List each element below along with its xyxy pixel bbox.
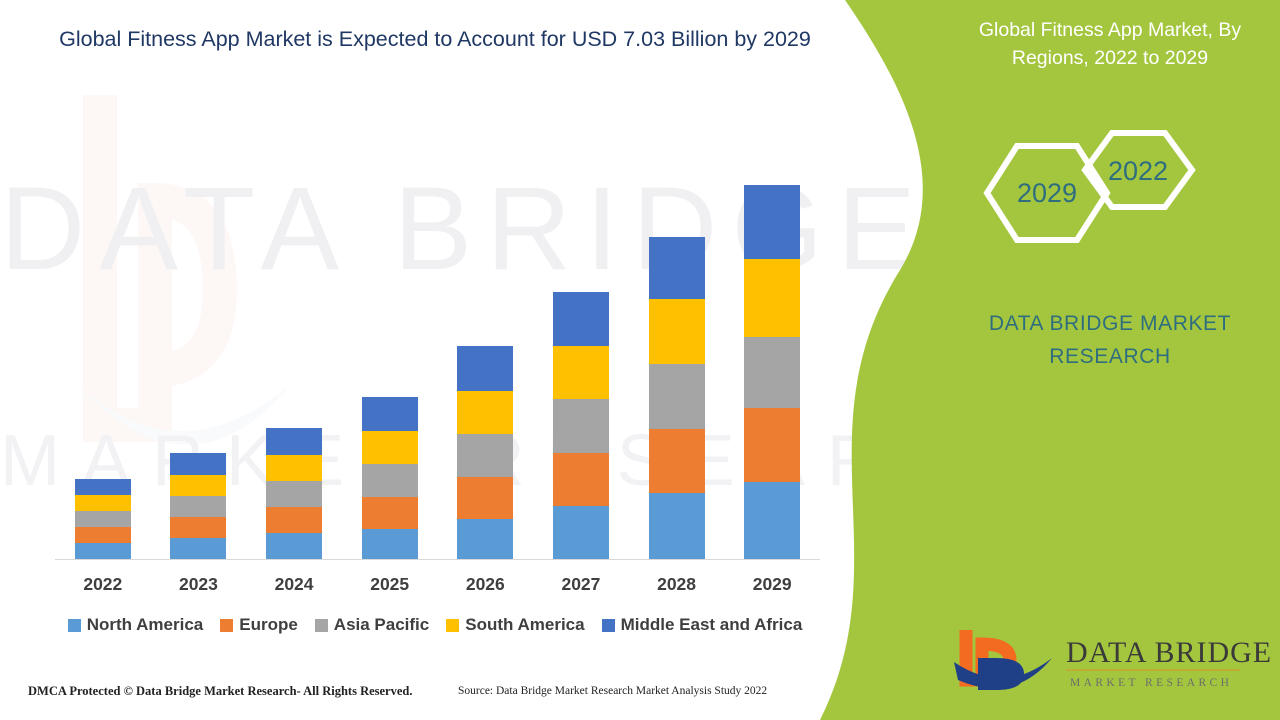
panel-title: Global Fitness App Market, By Regions, 2… <box>945 16 1275 73</box>
bar-segment <box>75 511 131 527</box>
bar-group-2027 <box>553 292 609 559</box>
bar-segment <box>170 538 226 559</box>
bar-segment <box>266 481 322 507</box>
bar-segment <box>744 482 800 559</box>
bar-segment <box>649 493 705 559</box>
bar-segment <box>266 455 322 481</box>
bar-group-2029 <box>744 185 800 559</box>
bar-segment <box>457 477 513 519</box>
x-axis-label-2024: 2024 <box>254 574 334 595</box>
legend-item-asia-pacific[interactable]: Asia Pacific <box>315 615 429 635</box>
legend-item-europe[interactable]: Europe <box>220 615 298 635</box>
x-axis-label-2026: 2026 <box>445 574 525 595</box>
chart-image: DATA BRIDGE MARKET RESEARCH Global Fitne… <box>0 0 1280 720</box>
x-axis-label-2025: 2025 <box>350 574 430 595</box>
bar-segment <box>457 391 513 434</box>
legend-label: Europe <box>239 615 298 635</box>
bar-segment <box>744 408 800 482</box>
footer-source: Source: Data Bridge Market Research Mark… <box>458 685 767 697</box>
x-axis-label-2027: 2027 <box>541 574 621 595</box>
bar-group-2024 <box>266 428 322 559</box>
bar-segment <box>553 399 609 453</box>
bar-segment <box>744 185 800 259</box>
legend-label: South America <box>465 615 584 635</box>
legend-item-middle-east-and-africa[interactable]: Middle East and Africa <box>602 615 803 635</box>
x-axis-label-2022: 2022 <box>63 574 143 595</box>
bar-segment <box>75 479 131 495</box>
bar-segment <box>75 527 131 543</box>
brand-name-line2: RESEARCH <box>1049 345 1171 368</box>
x-axis-label-2023: 2023 <box>158 574 238 595</box>
plot-area <box>55 120 820 560</box>
bar-segment <box>362 529 418 559</box>
hexagon-label-2022: 2022 <box>1108 156 1168 186</box>
legend-swatch <box>220 619 233 632</box>
legend-item-south-america[interactable]: South America <box>446 615 584 635</box>
bar-segment <box>649 364 705 429</box>
x-axis-line <box>55 559 820 560</box>
legend-swatch <box>315 619 328 632</box>
legend-item-north-america[interactable]: North America <box>68 615 204 635</box>
bar-segment <box>649 299 705 364</box>
footer-copyright: DMCA Protected © Data Bridge Market Rese… <box>28 684 413 699</box>
brand-name: DATA BRIDGE MARKET RESEARCH <box>950 308 1270 373</box>
bar-group-2025 <box>362 397 418 559</box>
bar-group-2022 <box>75 479 131 559</box>
legend-swatch <box>602 619 615 632</box>
x-axis-label-2029: 2029 <box>732 574 812 595</box>
x-axis-labels: 20222023202420252026202720282029 <box>55 574 820 600</box>
bar-segment <box>362 431 418 464</box>
bar-segment <box>75 543 131 559</box>
bar-segment <box>457 346 513 391</box>
x-axis-label-2028: 2028 <box>637 574 717 595</box>
bar-segment <box>266 428 322 455</box>
bar-segment <box>457 434 513 477</box>
bar-segment <box>75 495 131 511</box>
brand-name-line1: DATA BRIDGE MARKET <box>989 312 1231 335</box>
bar-group-2023 <box>170 453 226 559</box>
bar-segment <box>649 429 705 493</box>
legend-swatch <box>446 619 459 632</box>
bar-segment <box>457 519 513 559</box>
legend-swatch <box>68 619 81 632</box>
bar-segment <box>362 464 418 497</box>
bar-segment <box>170 496 226 517</box>
legend-label: Asia Pacific <box>334 615 429 635</box>
bar-segment <box>553 346 609 399</box>
bar-segment <box>362 497 418 529</box>
bar-segment <box>553 506 609 559</box>
logo-text-primary: DATA BRIDGE <box>1066 636 1272 669</box>
legend-label: Middle East and Africa <box>621 615 803 635</box>
bar-segment <box>170 475 226 496</box>
bar-segment <box>170 517 226 538</box>
bar-segment <box>553 453 609 506</box>
bar-segment <box>744 337 800 408</box>
bar-group-2028 <box>649 237 705 559</box>
bar-segment <box>744 259 800 337</box>
brand-panel-content: Global Fitness App Market, By Regions, 2… <box>940 0 1280 720</box>
logo-text-secondary: MARKET RESEARCH <box>1070 677 1232 689</box>
bar-segment <box>266 533 322 559</box>
legend-label: North America <box>87 615 204 635</box>
bar-group-2026 <box>457 346 513 559</box>
bar-segment <box>362 397 418 431</box>
chart-legend: North AmericaEuropeAsia PacificSouth Ame… <box>40 615 830 635</box>
company-logo: DATA BRIDGE MARKET RESEARCH <box>948 618 1278 698</box>
chart-title: Global Fitness App Market is Expected to… <box>40 24 830 55</box>
bar-segment <box>266 507 322 533</box>
bar-segment <box>649 237 705 299</box>
bar-segment <box>553 292 609 346</box>
bar-segment <box>170 453 226 475</box>
hexagon-badges: 2029 2022 <box>975 128 1245 278</box>
hexagon-label-2029: 2029 <box>1017 178 1077 208</box>
